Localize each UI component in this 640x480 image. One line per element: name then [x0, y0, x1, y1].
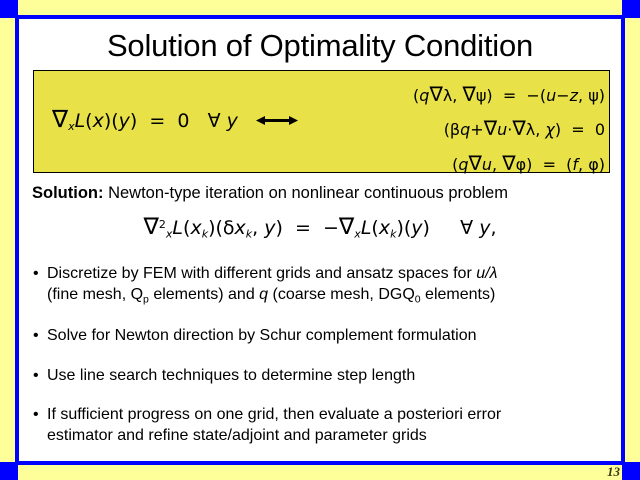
bullet-discretize-line1a: Discretize by FEM with different grids a… [47, 265, 476, 282]
solution-label: Solution: [32, 184, 103, 202]
bullet-line-search-text: Use line search techniques to determine … [47, 367, 415, 384]
right-equation-1: (q∇λ, ∇ψ) = −(u−z, ψ) [290, 77, 605, 111]
solution-line: Solution: Newton-type iteration on nonli… [32, 184, 508, 203]
bullet-dot-icon: • [33, 264, 39, 285]
frame-corner-bottom-right [622, 462, 640, 480]
bullet-discretize-line2c: (coarse mesh, DGQ [268, 286, 415, 303]
bullet-error-estimator-line2: estimator and refine state/adjoint and p… [47, 427, 427, 444]
bullet-discretize-line2a: (fine mesh, Q [47, 286, 143, 303]
slide-frame: 13 Solution of Optimality Condition ∇xL(… [0, 0, 640, 480]
solution-text: Newton-type iteration on nonlinear conti… [103, 184, 508, 202]
bullet-list: • Discretize by FEM with different grids… [30, 264, 618, 461]
right-equations: (q∇λ, ∇ψ) = −(u−z, ψ) (βq+∇u·∇λ, χ) = 0 … [290, 77, 605, 180]
bullet-error-estimator: • If sufficient progress on one grid, th… [30, 405, 618, 447]
frame-corner-top-right [622, 0, 640, 18]
bullet-schur: • Solve for Newton direction by Schur co… [30, 326, 618, 347]
frame-corner-top-left [0, 0, 18, 18]
right-equation-3: (q∇u, ∇φ) = (f, φ) [290, 146, 605, 180]
bullet-line-search: • Use line search techniques to determin… [30, 366, 618, 387]
page-number: 13 [607, 464, 620, 480]
frame-corner-bottom-left [0, 462, 18, 480]
frame-rule-bottom [18, 461, 622, 465]
slide-title: Solution of Optimality Condition [22, 28, 618, 64]
right-equation-2: (βq+∇u·∇λ, χ) = 0 [290, 111, 605, 145]
bullet-discretize-math1: u/λ [476, 265, 497, 282]
frame-rule-top [18, 15, 622, 19]
bullet-discretize-line2d: elements) [421, 286, 496, 303]
left-equation: ∇xL(x)(y) = 0 ∀ y [52, 105, 238, 133]
bullet-dot-icon: • [33, 326, 39, 347]
bullet-discretize-math2: q [259, 286, 268, 303]
bullet-discretize-line2b: elements) and [149, 286, 259, 303]
optimality-condition-box: ∇xL(x)(y) = 0 ∀ y (q∇λ, ∇ψ) = −(u−z, ψ) … [33, 70, 610, 173]
bullet-discretize: • Discretize by FEM with different grids… [30, 264, 618, 307]
bullet-dot-icon: • [33, 366, 39, 387]
frame-rule-right [621, 18, 625, 462]
bullet-schur-text: Solve for Newton direction by Schur comp… [47, 327, 477, 344]
newton-equation: ∇2xL(xk)(δxk, y) = −∇xL(xk)(y) ∀ y, [22, 214, 618, 240]
slide-content: Solution of Optimality Condition ∇xL(x)(… [22, 22, 618, 458]
frame-rule-left [15, 18, 19, 462]
bullet-error-estimator-line1: If sufficient progress on one grid, then… [47, 406, 501, 423]
bullet-dot-icon: • [33, 405, 39, 426]
